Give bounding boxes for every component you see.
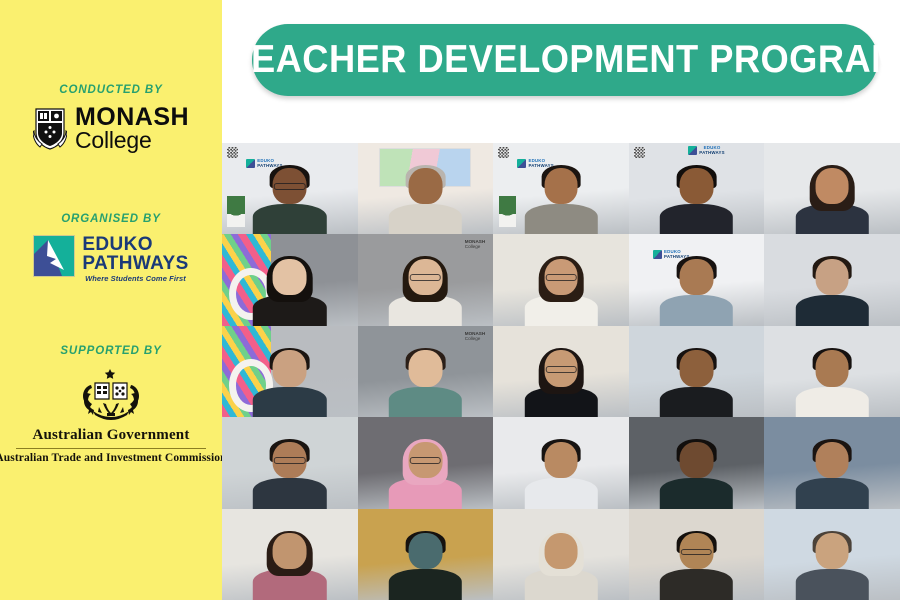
qr-code-icon [498, 147, 509, 158]
participant-tile-4[interactable]: EDUKOPATHWAYS [629, 143, 765, 234]
sponsor-sidebar: CONDUCTED BY MONASH College [0, 0, 222, 600]
participant-tile-18[interactable] [493, 417, 629, 508]
participant-torso [660, 569, 733, 600]
participant-tile-6[interactable] [222, 234, 358, 325]
participant-tile-9[interactable]: EDUKOPATHWAYS [629, 234, 765, 325]
monash-college-watermark: MONASHCollege [465, 239, 485, 249]
australian-government-line2: Australian Trade and Investment Commissi… [0, 452, 227, 464]
participant-glasses [410, 274, 441, 281]
participant-video-feed [796, 439, 869, 508]
participant-tile-5[interactable] [764, 143, 900, 234]
participant-torso [660, 204, 733, 235]
qr-code-icon [634, 147, 645, 158]
coat-of-arms-icon [73, 367, 149, 425]
participant-face [409, 168, 443, 204]
participant-glasses [274, 457, 305, 464]
participant-tile-1[interactable]: EDUKOPATHWAYS [222, 143, 358, 234]
participant-face [815, 259, 849, 295]
monash-college-watermark: MONASHCollege [465, 331, 485, 341]
participant-glasses [545, 366, 576, 373]
participant-video-feed [660, 348, 733, 417]
plant-decoration [499, 196, 517, 227]
participant-video-feed [660, 256, 733, 325]
participant-face [680, 442, 714, 478]
participant-torso [253, 387, 326, 418]
participant-video-feed [253, 439, 326, 508]
video-participant-grid: EDUKOPATHWAYSEDUKOPATHWAYSEDUKOPATHWAYSM… [222, 143, 900, 600]
australian-government-logo: Australian Government Australian Trade a… [13, 367, 209, 465]
participant-tile-3[interactable]: EDUKOPATHWAYS [493, 143, 629, 234]
plant-decoration [227, 196, 245, 227]
monash-watermark-line2: College [465, 336, 485, 341]
eduko-mark-icon [688, 146, 697, 155]
divider [16, 448, 206, 450]
participant-video-feed [253, 256, 326, 325]
participant-video-feed [524, 439, 597, 508]
participant-face [815, 442, 849, 478]
eduko-wordmark-line2: PATHWAYS [82, 254, 188, 273]
monash-college-logo: MONASH College [33, 106, 189, 151]
participant-face [815, 533, 849, 569]
participant-tile-7[interactable]: MONASHCollege [358, 234, 494, 325]
participant-glasses [410, 457, 441, 464]
participant-face [544, 168, 578, 204]
participant-video-feed [524, 348, 597, 417]
participant-video-feed [524, 256, 597, 325]
participant-video-feed [796, 256, 869, 325]
participant-torso [389, 387, 462, 418]
participant-tile-17[interactable] [358, 417, 494, 508]
program-title-banner: TEACHER DEVELOPMENT PROGRAM [252, 24, 878, 96]
participant-torso [253, 204, 326, 235]
participant-face [273, 533, 307, 569]
page-title: TEACHER DEVELOPMENT PROGRAM [228, 38, 900, 82]
participant-face [680, 168, 714, 204]
participant-video-feed [389, 256, 462, 325]
participant-tile-21[interactable] [222, 509, 358, 600]
webinar-screenshot: CONDUCTED BY MONASH College [0, 0, 900, 600]
participant-tile-20[interactable] [764, 417, 900, 508]
participant-tile-2[interactable] [358, 143, 494, 234]
participant-torso [660, 478, 733, 509]
participant-face [680, 259, 714, 295]
participant-face [409, 533, 443, 569]
organised-by-label: ORGANISED BY [61, 213, 161, 225]
participant-torso [389, 204, 462, 235]
participant-face [273, 350, 307, 386]
participant-torso [796, 295, 869, 326]
eduko-mountain-icon [33, 235, 75, 277]
participant-face [273, 259, 307, 295]
participant-torso [660, 295, 733, 326]
eduko-wordmark-line1: EDUKO [82, 235, 188, 254]
eduko-pathways-watermark: EDUKOPATHWAYS [699, 146, 724, 155]
participant-torso [389, 569, 462, 600]
australian-government-line1: Australian Government [32, 427, 189, 444]
participant-video-feed [524, 531, 597, 600]
participant-face [409, 350, 443, 386]
participant-face [544, 533, 578, 569]
participant-tile-22[interactable] [358, 509, 494, 600]
participant-tile-10[interactable] [764, 234, 900, 325]
eduko-pathways-logo: EDUKO PATHWAYS Where Students Come First [33, 235, 188, 283]
eduko-tagline: Where Students Come First [82, 275, 188, 283]
participant-tile-23[interactable] [493, 509, 629, 600]
participant-tile-16[interactable] [222, 417, 358, 508]
monash-wordmark-line2: College [75, 130, 189, 151]
participant-tile-13[interactable] [493, 326, 629, 417]
participant-video-feed [389, 348, 462, 417]
conducted-by-label: CONDUCTED BY [59, 84, 162, 96]
participant-torso [524, 204, 597, 235]
participant-video-feed [796, 531, 869, 600]
participant-video-feed [389, 439, 462, 508]
participant-tile-8[interactable] [493, 234, 629, 325]
participant-video-feed [389, 165, 462, 234]
participant-torso [796, 478, 869, 509]
qr-code-icon [227, 147, 238, 158]
participant-face [680, 350, 714, 386]
participant-tile-19[interactable] [629, 417, 765, 508]
monash-shield-icon [33, 107, 67, 151]
eduko-watermark-line2: PATHWAYS [699, 151, 724, 156]
participant-glasses [681, 549, 712, 556]
participant-video-feed [253, 165, 326, 234]
participant-torso [796, 387, 869, 418]
participant-video-feed [796, 165, 869, 234]
participant-torso [253, 478, 326, 509]
participant-tile-24[interactable] [629, 509, 765, 600]
participant-tile-12[interactable]: MONASHCollege [358, 326, 494, 417]
participant-torso [796, 569, 869, 600]
participant-video-feed [253, 348, 326, 417]
supported-by-label: SUPPORTED BY [60, 345, 161, 357]
participant-video-feed [660, 165, 733, 234]
monash-watermark-line2: College [465, 244, 485, 249]
participant-glasses [274, 183, 305, 190]
participant-tile-11[interactable] [222, 326, 358, 417]
participant-face [815, 168, 849, 204]
participant-glasses [545, 274, 576, 281]
participant-video-feed [524, 165, 597, 234]
participant-video-feed [660, 531, 733, 600]
participant-tile-25[interactable] [764, 509, 900, 600]
participant-tile-15[interactable] [764, 326, 900, 417]
participant-tile-14[interactable] [629, 326, 765, 417]
participant-torso [524, 478, 597, 509]
participant-torso [660, 387, 733, 418]
participant-face [544, 442, 578, 478]
participant-face [815, 350, 849, 386]
participant-video-feed [796, 348, 869, 417]
participant-video-feed [253, 531, 326, 600]
monash-wordmark-line1: MONASH [75, 106, 189, 129]
participant-video-feed [389, 531, 462, 600]
participant-video-feed [660, 439, 733, 508]
